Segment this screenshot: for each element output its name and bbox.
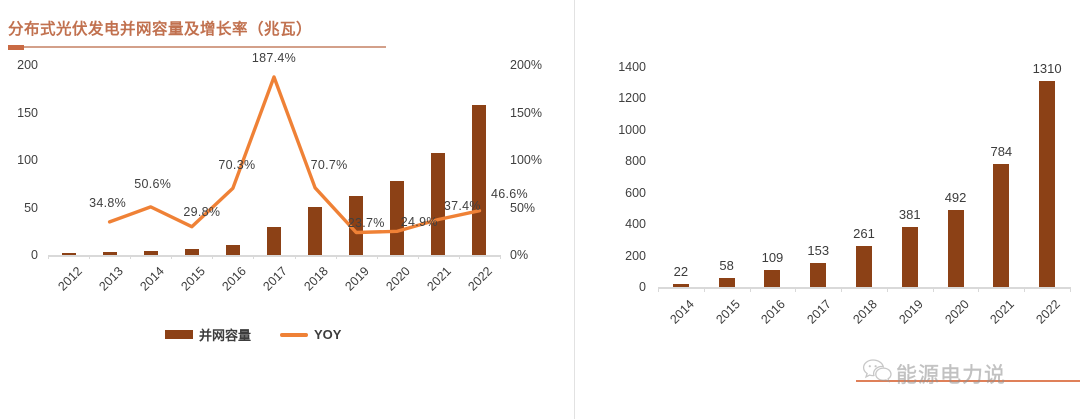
screenshot-root: 分布式光伏发电并网容量及增长率（兆瓦） 0501001502000%50%100… xyxy=(0,0,1080,419)
x-tick-mark xyxy=(750,287,751,292)
line-data-label: 34.8% xyxy=(89,196,126,210)
x-axis-baseline xyxy=(658,287,1070,289)
y-axis-tick: 1400 xyxy=(600,60,646,74)
x-tick-mark xyxy=(1070,287,1071,292)
y-axis-tick: 200 xyxy=(600,249,646,263)
bar-data-label: 784 xyxy=(990,144,1012,159)
bar xyxy=(948,210,964,287)
x-tick-mark xyxy=(795,287,796,292)
x-tick-mark xyxy=(1024,287,1025,292)
x-axis-tick-label: 2014 xyxy=(659,297,697,335)
legend-item-bar[interactable]: 并网容量 xyxy=(165,325,251,344)
bar-data-label: 381 xyxy=(899,207,921,222)
legend-label-line: YOY xyxy=(314,327,341,342)
x-tick-mark xyxy=(933,287,934,292)
line-data-label: 23.7% xyxy=(348,216,385,230)
chart-panel-ev-ownership: 我国电动汽车保有量（万辆） 02004006008001000120014002… xyxy=(574,0,1080,419)
bar xyxy=(719,278,735,287)
plot-distributed-pv: 0501001502000%50%100%150%200%34.8%50.6%2… xyxy=(0,55,574,315)
legend-line-swatch-icon xyxy=(280,333,308,337)
bar-data-label: 58 xyxy=(719,258,733,273)
y-axis-tick: 800 xyxy=(600,154,646,168)
watermark: 能源电力说 xyxy=(862,358,1006,389)
line-data-label: 37.4% xyxy=(444,199,481,213)
legend-bar-swatch-icon xyxy=(165,330,193,339)
plot-ev-ownership: 0200400600800100012001400222014582015109… xyxy=(600,55,1080,320)
bar xyxy=(856,246,872,287)
x-axis-tick-label: 2017 xyxy=(796,297,834,335)
line-data-label: 187.4% xyxy=(252,51,296,65)
x-tick-mark xyxy=(658,287,659,292)
line-data-label: 46.6% xyxy=(491,187,528,201)
x-tick-mark xyxy=(887,287,888,292)
x-axis-tick-label: 2020 xyxy=(933,297,971,335)
x-axis-tick-label: 2016 xyxy=(750,297,788,335)
bar-data-label: 1310 xyxy=(1033,61,1062,76)
wechat-icon xyxy=(862,358,892,389)
x-axis-tick-label: 2022 xyxy=(1025,297,1063,335)
y-axis-tick: 1000 xyxy=(600,123,646,137)
x-tick-mark xyxy=(704,287,705,292)
chart-legend-distributed-pv: 并网容量 YOY xyxy=(165,325,341,344)
chart-title-distributed-pv: 分布式光伏发电并网容量及增长率（兆瓦） xyxy=(8,17,312,39)
bar-data-label: 153 xyxy=(807,243,829,258)
bar xyxy=(673,284,689,287)
x-tick-mark xyxy=(978,287,979,292)
x-axis-tick-label: 2015 xyxy=(704,297,742,335)
bar xyxy=(810,263,826,287)
watermark-text: 能源电力说 xyxy=(896,359,1006,389)
x-axis-tick-label: 2018 xyxy=(842,297,880,335)
x-axis-tick-label: 2019 xyxy=(887,297,925,335)
y-axis-tick: 0 xyxy=(600,280,646,294)
x-tick-mark xyxy=(841,287,842,292)
legend-label-bar: 并网容量 xyxy=(199,325,251,344)
bar xyxy=(764,270,780,287)
line-data-label: 29.8% xyxy=(183,205,220,219)
line-data-label: 70.3% xyxy=(218,158,255,172)
bar-data-label: 492 xyxy=(945,190,967,205)
line-data-label: 24.9% xyxy=(401,215,438,229)
y-axis-tick: 400 xyxy=(600,217,646,231)
bar-data-label: 109 xyxy=(762,250,784,265)
bar-data-label: 22 xyxy=(674,264,688,279)
chart-panel-distributed-pv: 分布式光伏发电并网容量及增长率（兆瓦） 0501001502000%50%100… xyxy=(0,0,574,419)
bar-data-label: 261 xyxy=(853,226,875,241)
x-axis-tick-label: 2021 xyxy=(979,297,1017,335)
bar xyxy=(993,164,1009,287)
title-underline-left xyxy=(8,46,386,48)
y-axis-tick: 600 xyxy=(600,186,646,200)
y-axis-tick: 1200 xyxy=(600,91,646,105)
line-data-label: 70.7% xyxy=(311,158,348,172)
bar xyxy=(1039,81,1055,287)
legend-item-line[interactable]: YOY xyxy=(280,327,341,342)
line-data-label: 50.6% xyxy=(134,177,171,191)
bar xyxy=(902,227,918,287)
